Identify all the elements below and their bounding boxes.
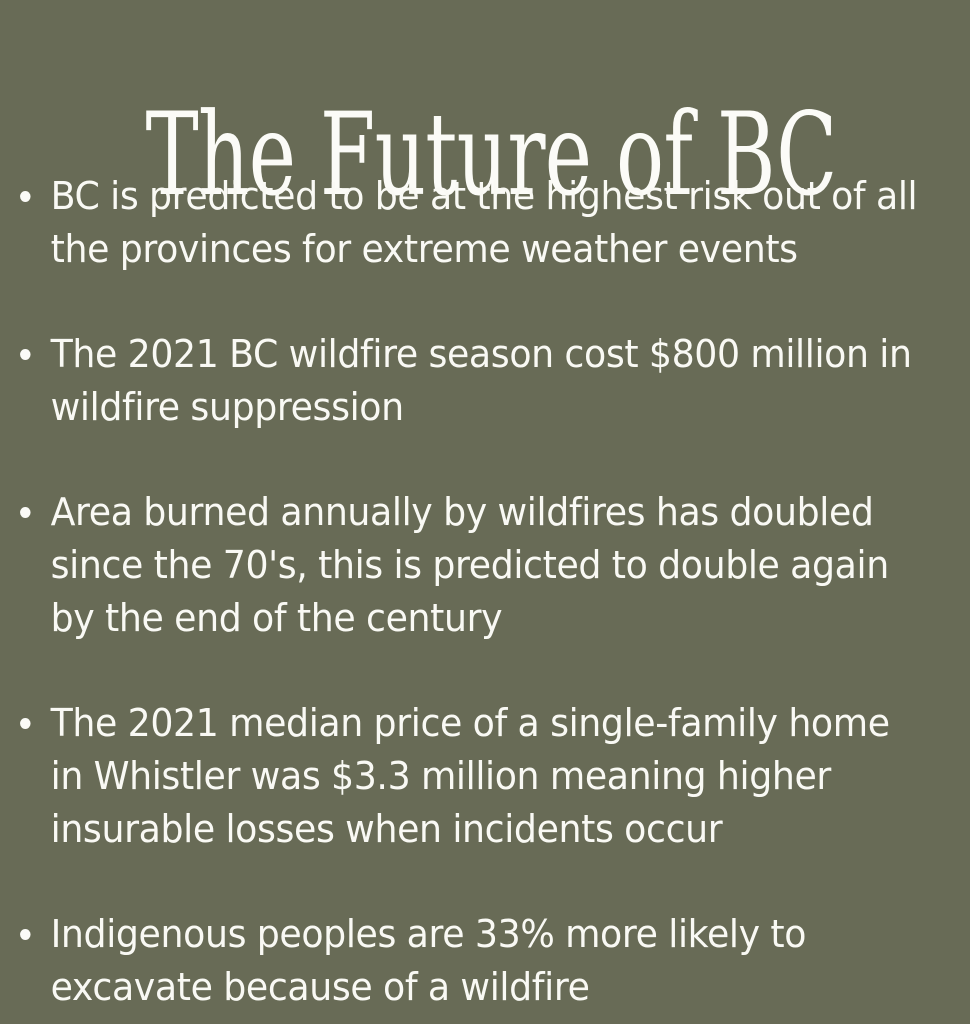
list-item-label: The 2021 BC wildfire season cost $800 mi…: [51, 328, 923, 434]
list-item: Indigenous peoples are 33% more likely t…: [0, 908, 926, 1014]
list-item-label: The 2021 median price of a single-family…: [51, 697, 923, 856]
list-item-label: BC is predicted to be at the highest ris…: [51, 170, 923, 276]
bullet-circle-icon: [20, 507, 31, 518]
list-item-label: Area burned annually by wildfires has do…: [51, 486, 923, 645]
bullet-circle-icon: [20, 929, 31, 940]
bullet-list: BC is predicted to be at the highest ris…: [0, 170, 970, 1014]
list-item: The 2021 BC wildfire season cost $800 mi…: [0, 328, 926, 434]
list-item: Area burned annually by wildfires has do…: [0, 486, 926, 645]
list-item-label: Indigenous peoples are 33% more likely t…: [51, 908, 923, 1014]
bullet-circle-icon: [20, 191, 31, 202]
presentation-slide: The Future of BC BC is predicted to be a…: [0, 0, 970, 1024]
bullet-circle-icon: [20, 349, 31, 360]
list-item: BC is predicted to be at the highest ris…: [0, 170, 926, 276]
list-item: The 2021 median price of a single-family…: [0, 697, 926, 856]
bullet-circle-icon: [20, 718, 31, 729]
